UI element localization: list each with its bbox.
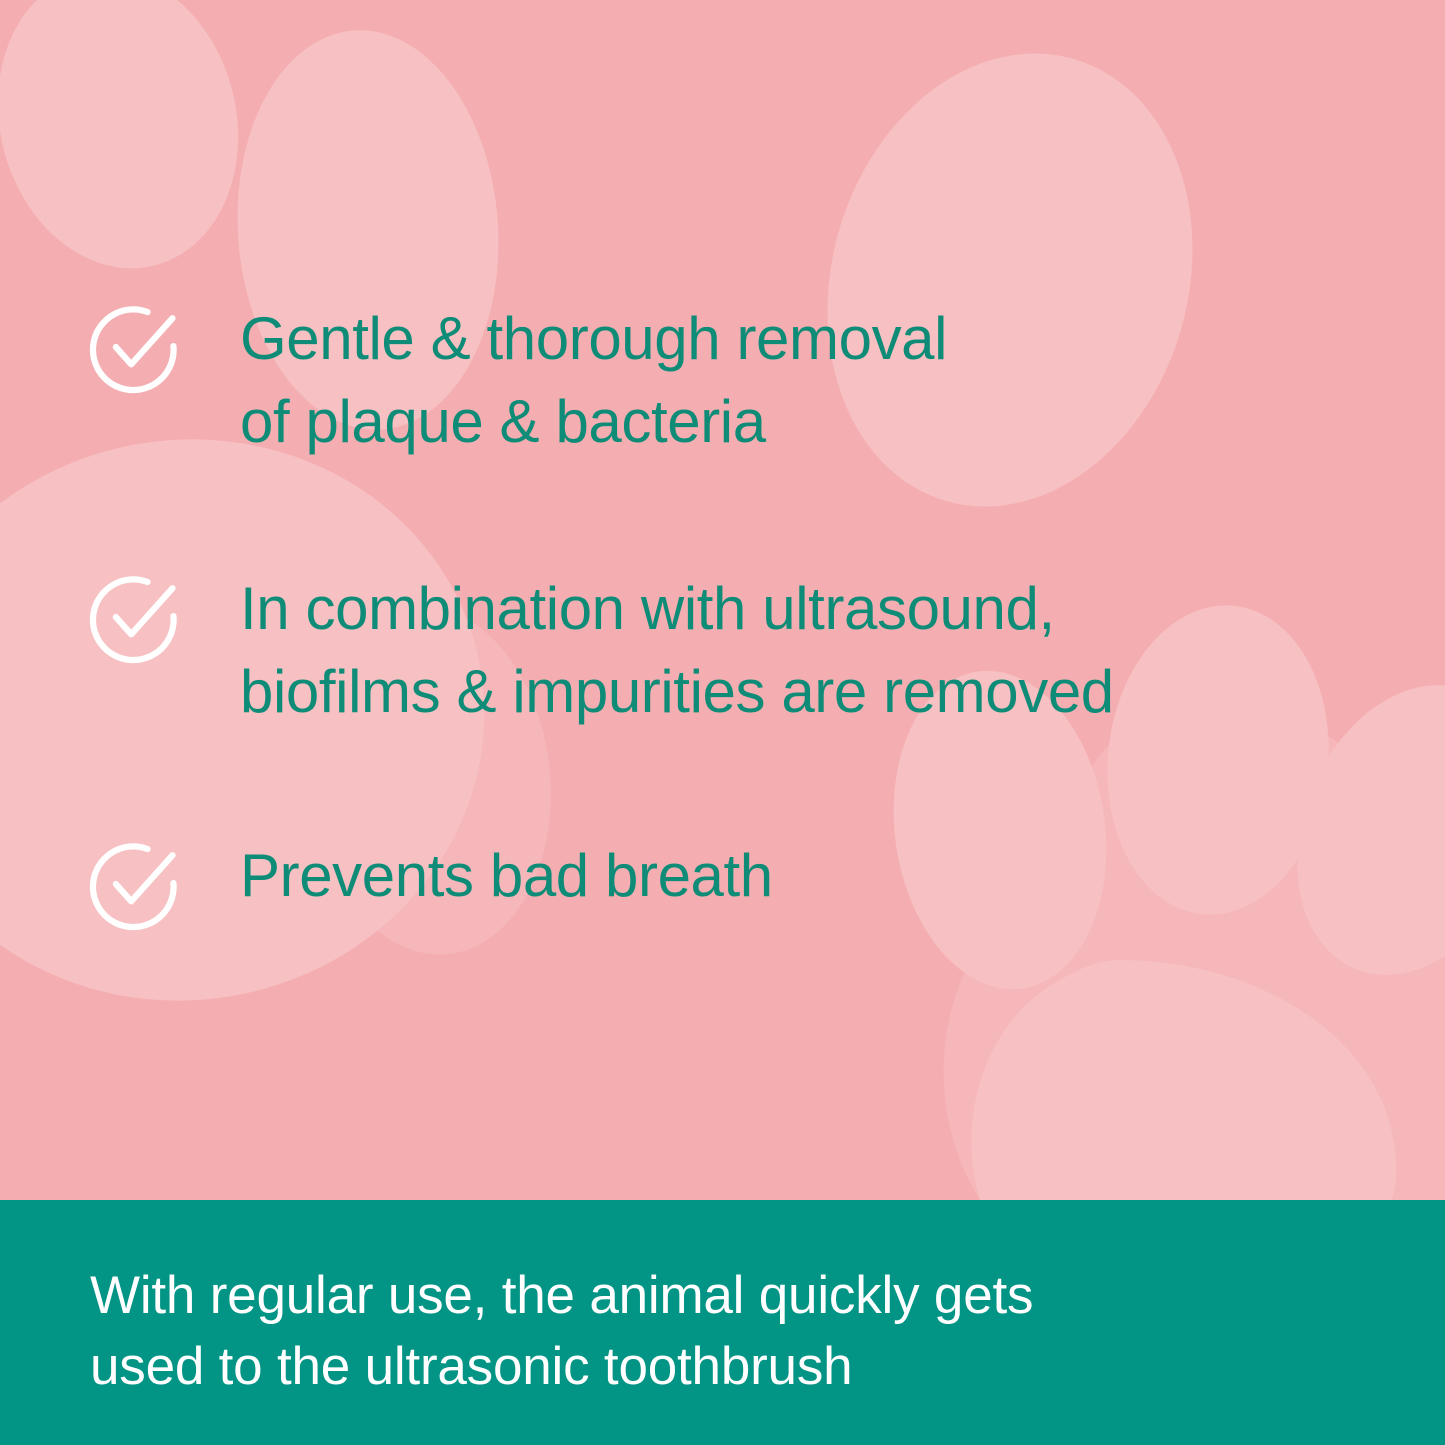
check-circle-icon: [88, 570, 184, 666]
check-circle-icon: [88, 300, 184, 396]
check-circle-icon: [88, 837, 184, 933]
feature-text: Prevents bad breath: [240, 833, 773, 918]
feature-item: In combination with ultrasound, biofilms…: [88, 566, 1114, 734]
promo-card: Gentle & thorough removal of plaque & ba…: [0, 0, 1445, 1445]
feature-list: Gentle & thorough removal of plaque & ba…: [0, 0, 1445, 1200]
feature-item: Prevents bad breath: [88, 833, 773, 933]
feature-text: Gentle & thorough removal of plaque & ba…: [240, 296, 947, 464]
feature-text: In combination with ultrasound, biofilms…: [240, 566, 1114, 734]
footer-text: With regular use, the animal quickly get…: [90, 1260, 1365, 1402]
feature-item: Gentle & thorough removal of plaque & ba…: [88, 296, 947, 464]
footer-banner: With regular use, the animal quickly get…: [0, 1200, 1445, 1445]
